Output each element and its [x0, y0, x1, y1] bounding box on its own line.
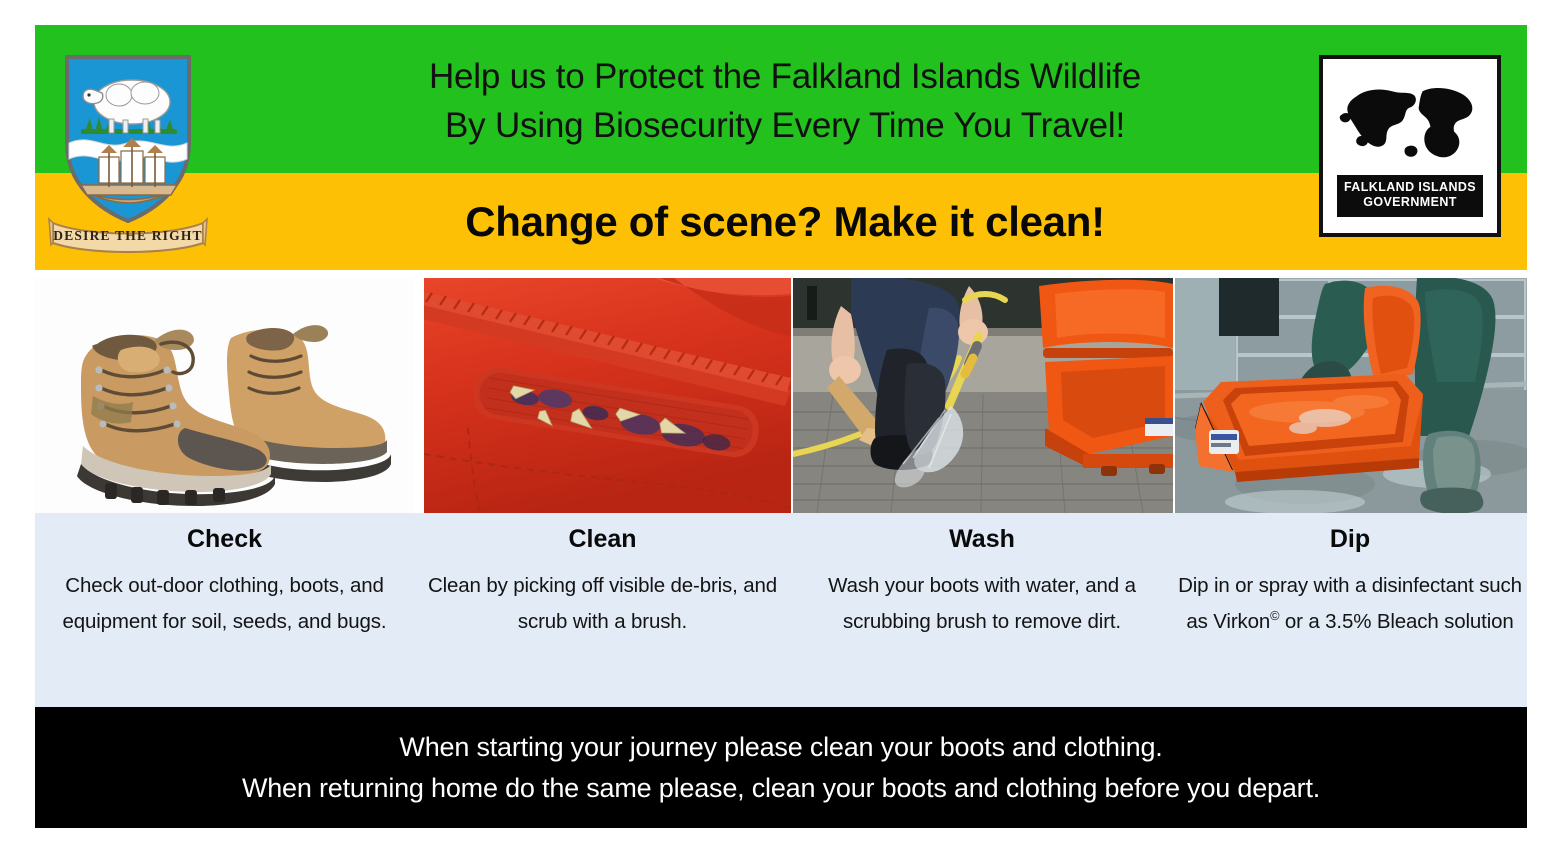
biosecurity-poster: DESIRE THE RIGHT Help us to Protect the … [35, 25, 1527, 828]
government-logo-label: FALKLAND ISLANDS GOVERNMENT [1337, 175, 1483, 217]
subheadline: Change of scene? Make it clean! [465, 198, 1105, 246]
footer-line-2: When returning home do the same please, … [242, 773, 1320, 804]
caption-body-dip-part-2: or a 3.5% Bleach solution [1279, 610, 1513, 633]
washing-boots-photo [793, 278, 1173, 513]
footer-banner: When starting your journey please clean … [35, 707, 1527, 828]
falkland-islands-map-icon [1329, 67, 1491, 175]
caption-title-check: Check [41, 526, 408, 554]
subheadline-block: Change of scene? Make it clean! [285, 173, 1285, 270]
caption-column-clean: Clean Clean by picking off visible de-br… [414, 513, 791, 707]
caption-column-wash: Wash Wash your boots with water, and a s… [791, 513, 1173, 707]
headline-block: Help us to Protect the Falkland Islands … [285, 29, 1285, 173]
copyright-symbol: © [1270, 608, 1279, 623]
government-logo-label-line-1: FALKLAND ISLANDS [1344, 180, 1476, 194]
government-logo-label-line-2: GOVERNMENT [1363, 195, 1457, 209]
headline-line-1: Help us to Protect the Falkland Islands … [429, 53, 1141, 100]
government-logo: FALKLAND ISLANDS GOVERNMENT [1319, 55, 1501, 237]
photo-strip [35, 278, 1527, 513]
government-logo-inner: FALKLAND ISLANDS GOVERNMENT [1329, 65, 1491, 227]
jacket-velcro-seeds-photo [424, 278, 791, 513]
coat-of-arms-motto: DESIRE THE RIGHT [53, 228, 203, 243]
caption-row: Check Check out-door clothing, boots, an… [35, 513, 1527, 707]
caption-body-clean: Clean by picking off visible de-bris, an… [420, 568, 785, 641]
coat-of-arms-icon: DESIRE THE RIGHT [47, 47, 209, 253]
caption-body-dip: Dip in or spray with a disinfectant such… [1175, 568, 1525, 641]
caption-body-check: Check out-door clothing, boots, and equi… [41, 568, 408, 641]
caption-column-check: Check Check out-door clothing, boots, an… [35, 513, 414, 707]
boot-dip-photo [1175, 278, 1527, 513]
footer-line-1: When starting your journey please clean … [399, 732, 1162, 763]
caption-title-dip: Dip [1175, 526, 1525, 554]
caption-body-wash: Wash your boots with water, and a scrubb… [795, 568, 1169, 641]
caption-title-wash: Wash [795, 526, 1169, 554]
headline-line-2: By Using Biosecurity Every Time You Trav… [445, 102, 1125, 149]
caption-column-dip: Dip Dip in or spray with a disinfectant … [1173, 513, 1527, 707]
caption-title-clean: Clean [420, 526, 785, 554]
hiking-boots-photo [35, 278, 414, 513]
